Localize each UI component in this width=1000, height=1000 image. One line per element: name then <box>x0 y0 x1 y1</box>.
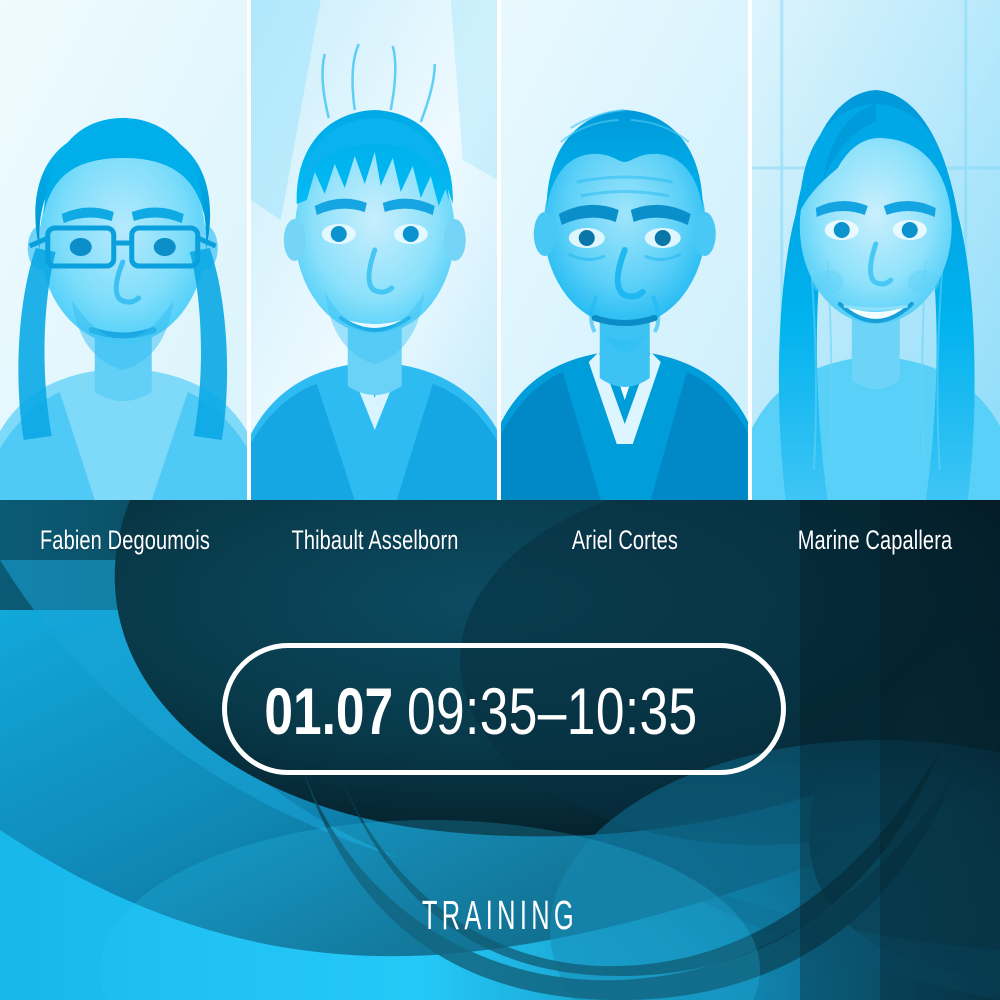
session-category: TRAINING <box>0 895 1000 936</box>
speaker-photo-2 <box>251 0 498 500</box>
speaker-name-band: Fabien Degoumois Thibault Asselborn Arie… <box>0 500 1000 580</box>
speaker-photo-4 <box>752 0 1000 500</box>
speaker-photo-strip <box>0 0 1000 500</box>
session-date: 01.07 <box>264 678 393 744</box>
speaker-photo-1 <box>0 0 247 500</box>
speaker-photo-3 <box>501 0 748 500</box>
speaker-name-4: Marine Capallera <box>783 527 968 554</box>
session-time-range: 09:35–10:35 <box>407 678 698 744</box>
speaker-name-2: Thibault Asselborn <box>283 527 468 554</box>
session-category-label: TRAINING <box>422 895 578 936</box>
session-time-badge: 01.07 09:35–10:35 <box>222 643 786 775</box>
speaker-name-3: Ariel Cortes <box>533 527 718 554</box>
speaker-name-1: Fabien Degoumois <box>33 527 218 554</box>
session-time-badge-inner: 01.07 09:35–10:35 <box>228 678 780 744</box>
event-poster: Fabien Degoumois Thibault Asselborn Arie… <box>0 0 1000 1000</box>
